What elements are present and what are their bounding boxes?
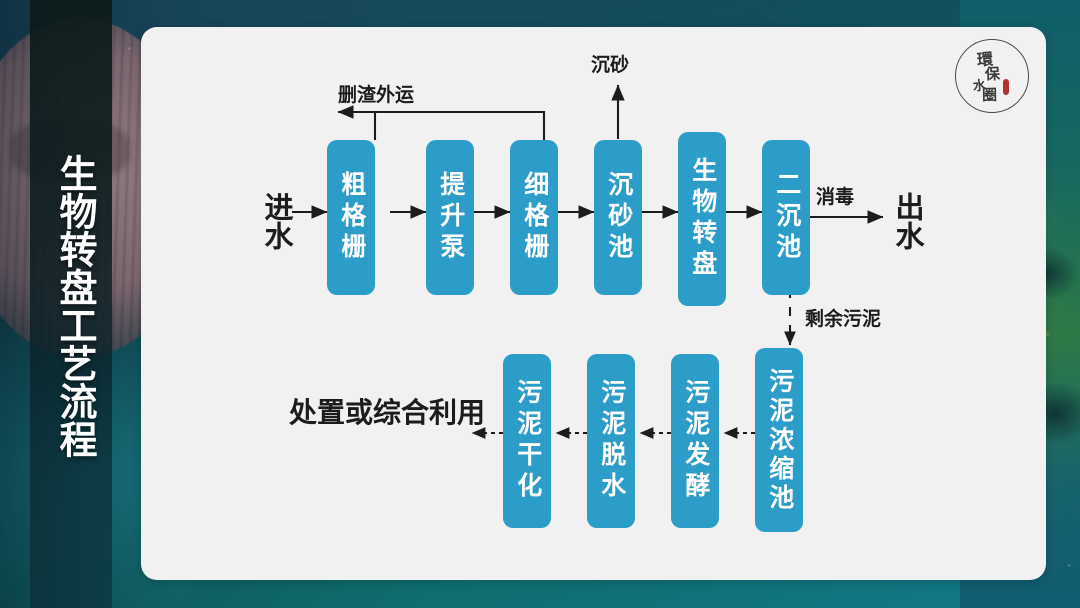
label-disinfect: 消毒 (816, 182, 854, 209)
label-excess-sludge: 剩余污泥 (805, 304, 881, 331)
node-sludge-drying-label: 污泥干化 (514, 379, 540, 503)
node-sludge-thickener[interactable]: 污泥浓缩池 (755, 348, 803, 532)
node-secondary-clarifier[interactable]: 二沉池 (762, 140, 810, 295)
flow-diagram: 粗格栅 提升泵 细格栅 沉砂池 生物转盘 二沉池 污泥浓缩池 污泥发酵 污泥脱水… (141, 27, 1046, 580)
node-grit-chamber-label: 沉砂池 (605, 171, 631, 264)
node-sludge-thickener-label: 污泥浓缩池 (766, 368, 792, 513)
node-lift-pump[interactable]: 提升泵 (426, 140, 474, 295)
label-screen-residue: 删渣外运 (338, 80, 414, 107)
node-fine-screen-label: 细格栅 (521, 171, 547, 264)
label-inlet: 进水 (258, 183, 294, 259)
label-final-use: 处置或综合利用 (289, 393, 481, 434)
brand-seal-logo: 環 保 水 圈 (955, 39, 1029, 113)
node-grit-chamber[interactable]: 沉砂池 (594, 140, 642, 295)
label-grit: 沉砂 (591, 50, 629, 77)
label-outlet: 出水 (889, 183, 925, 259)
node-sludge-dewatering[interactable]: 污泥脱水 (587, 354, 635, 528)
node-secondary-clarifier-label: 二沉池 (773, 171, 799, 264)
page-title: 生物转盘工艺流程 (46, 126, 98, 486)
seal-char-4: 圈 (982, 88, 997, 103)
node-sludge-fermentation[interactable]: 污泥发酵 (671, 354, 719, 528)
diagram-card: 粗格栅 提升泵 细格栅 沉砂池 生物转盘 二沉池 污泥浓缩池 污泥发酵 污泥脱水… (141, 27, 1046, 580)
node-sludge-fermentation-label: 污泥发酵 (682, 379, 708, 503)
node-bio-disc[interactable]: 生物转盘 (678, 132, 726, 306)
node-coarse-screen[interactable]: 粗格栅 (327, 140, 375, 295)
seal-char-2: 保 (985, 67, 1001, 83)
node-bio-disc-label: 生物转盘 (689, 157, 715, 281)
node-lift-pump-label: 提升泵 (437, 171, 463, 264)
node-sludge-drying[interactable]: 污泥干化 (503, 354, 551, 528)
node-sludge-dewatering-label: 污泥脱水 (598, 379, 624, 503)
seal-red-mark-icon (1003, 79, 1009, 95)
node-coarse-screen-label: 粗格栅 (338, 171, 364, 264)
node-fine-screen[interactable]: 细格栅 (510, 140, 558, 295)
